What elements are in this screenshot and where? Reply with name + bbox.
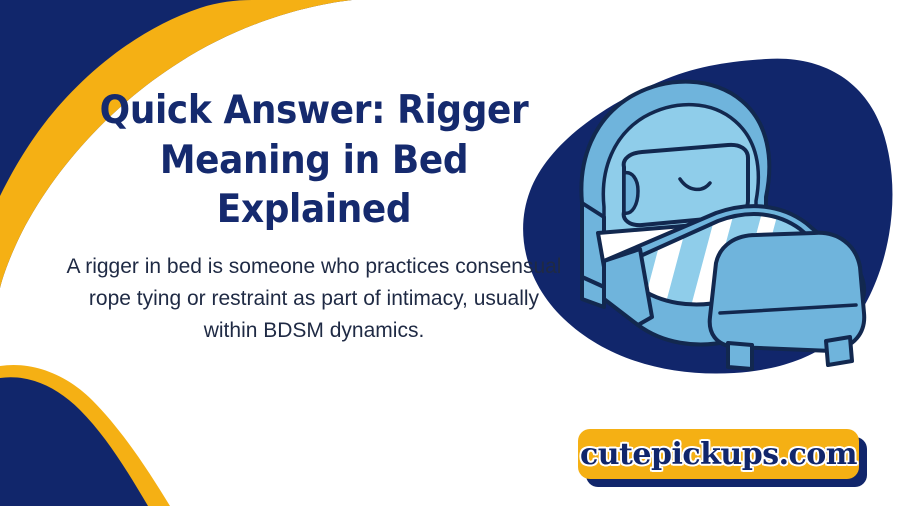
bed-illustration-group <box>520 55 900 375</box>
bed-leg-foot-right <box>826 337 852 365</box>
text-block: Quick Answer: Rigger Meaning in Bed Expl… <box>58 86 570 347</box>
logo-text: cutepickups.com <box>580 437 857 472</box>
site-logo-badge[interactable]: cutepickups.com <box>578 429 859 479</box>
bed-footboard <box>710 233 865 351</box>
page-title: Quick Answer: Rigger Meaning in Bed Expl… <box>78 86 549 235</box>
bottom-left-navy-shape <box>0 371 154 506</box>
infographic-canvas: Quick Answer: Rigger Meaning in Bed Expl… <box>0 0 900 506</box>
logo-badge-face: cutepickups.com <box>578 429 859 479</box>
body-paragraph: A rigger in bed is someone who practices… <box>58 251 570 347</box>
bed-leg-foot-left <box>728 343 752 369</box>
bed-pillow-fold <box>624 173 638 214</box>
bottom-left-gold-band <box>0 365 170 506</box>
